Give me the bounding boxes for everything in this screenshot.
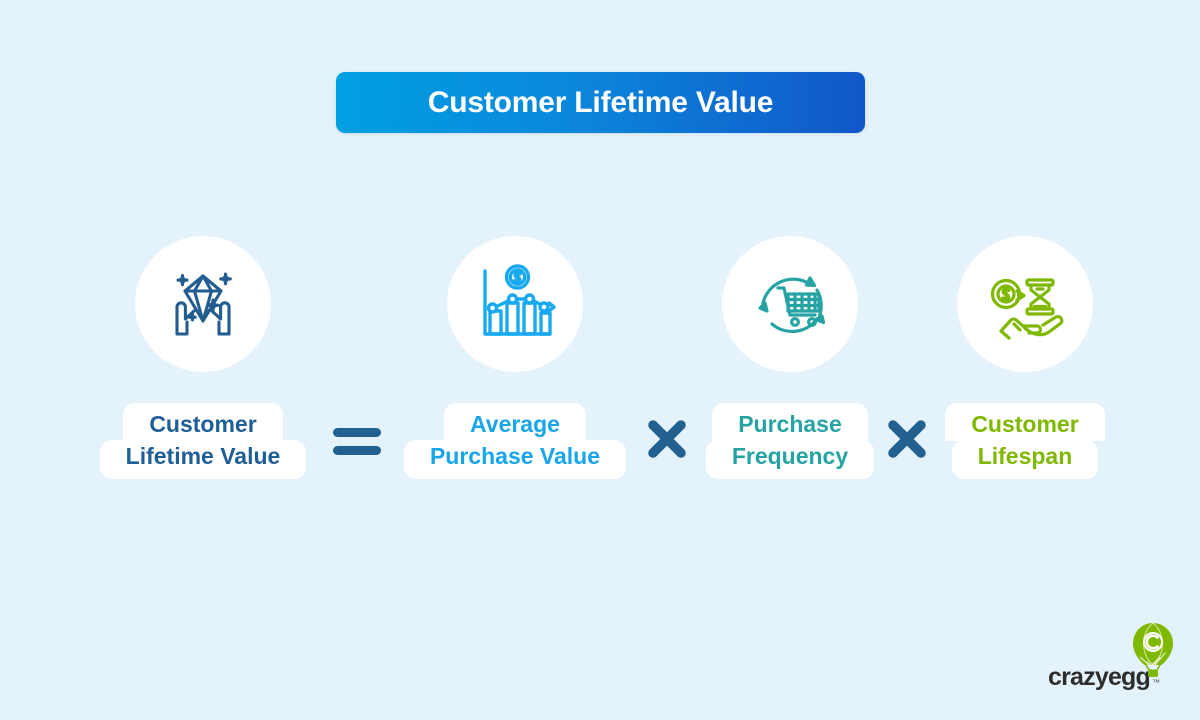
label-line-4-bottom: Lifespan bbox=[952, 440, 1099, 479]
label-line-4-top: Customer bbox=[945, 403, 1104, 441]
multiply-operator-2 bbox=[877, 411, 937, 471]
label-pill-2: Average Purchase Value bbox=[404, 403, 626, 479]
title-banner: Customer Lifetime Value bbox=[336, 72, 865, 133]
label-line-3-top: Purchase bbox=[712, 403, 868, 441]
shopping-cart-cycle-icon bbox=[744, 258, 836, 350]
label-line-2-bottom: Purchase Value bbox=[404, 440, 626, 479]
formula-term-purchase-frequency: Purchase Frequency bbox=[670, 236, 910, 479]
label-line-3-bottom: Frequency bbox=[706, 440, 874, 479]
multiply-icon bbox=[644, 416, 690, 467]
diamond-in-hands-icon bbox=[157, 258, 249, 350]
icon-circle-4 bbox=[957, 236, 1093, 372]
icon-circle-3 bbox=[722, 236, 858, 372]
bar-chart-dollar-icon bbox=[470, 259, 560, 349]
label-pill-3: Purchase Frequency bbox=[706, 403, 874, 479]
equals-operator bbox=[327, 411, 387, 471]
icon-circle-2 bbox=[447, 236, 583, 372]
formula-term-customer-lifespan: Customer Lifespan bbox=[905, 236, 1145, 479]
hourglass-hand-dollar-icon bbox=[979, 258, 1071, 350]
icon-circle-1 bbox=[135, 236, 271, 372]
hot-air-balloon-icon bbox=[1130, 622, 1176, 683]
page-title: Customer Lifetime Value bbox=[428, 88, 774, 118]
multiply-icon bbox=[884, 416, 930, 467]
label-pill-4: Customer Lifespan bbox=[945, 403, 1104, 479]
equals-bar-bottom bbox=[333, 446, 381, 455]
label-line-1-top: Customer bbox=[123, 403, 282, 441]
label-pill-1: Customer Lifetime Value bbox=[100, 403, 307, 479]
crazyegg-logo[interactable]: crazyegg ™ bbox=[1048, 622, 1176, 694]
formula-term-customer-lifetime-value: Customer Lifetime Value bbox=[83, 236, 323, 479]
label-line-1-bottom: Lifetime Value bbox=[100, 440, 307, 479]
infographic-canvas: Customer Lifetime Value bbox=[0, 0, 1200, 720]
multiply-operator-1 bbox=[637, 411, 697, 471]
formula-row: Customer Lifetime Value bbox=[0, 236, 1200, 496]
formula-term-average-purchase-value: Average Purchase Value bbox=[395, 236, 635, 479]
equals-bar-top bbox=[333, 428, 381, 437]
equals-glyph bbox=[333, 428, 381, 455]
label-line-2-top: Average bbox=[444, 403, 586, 441]
